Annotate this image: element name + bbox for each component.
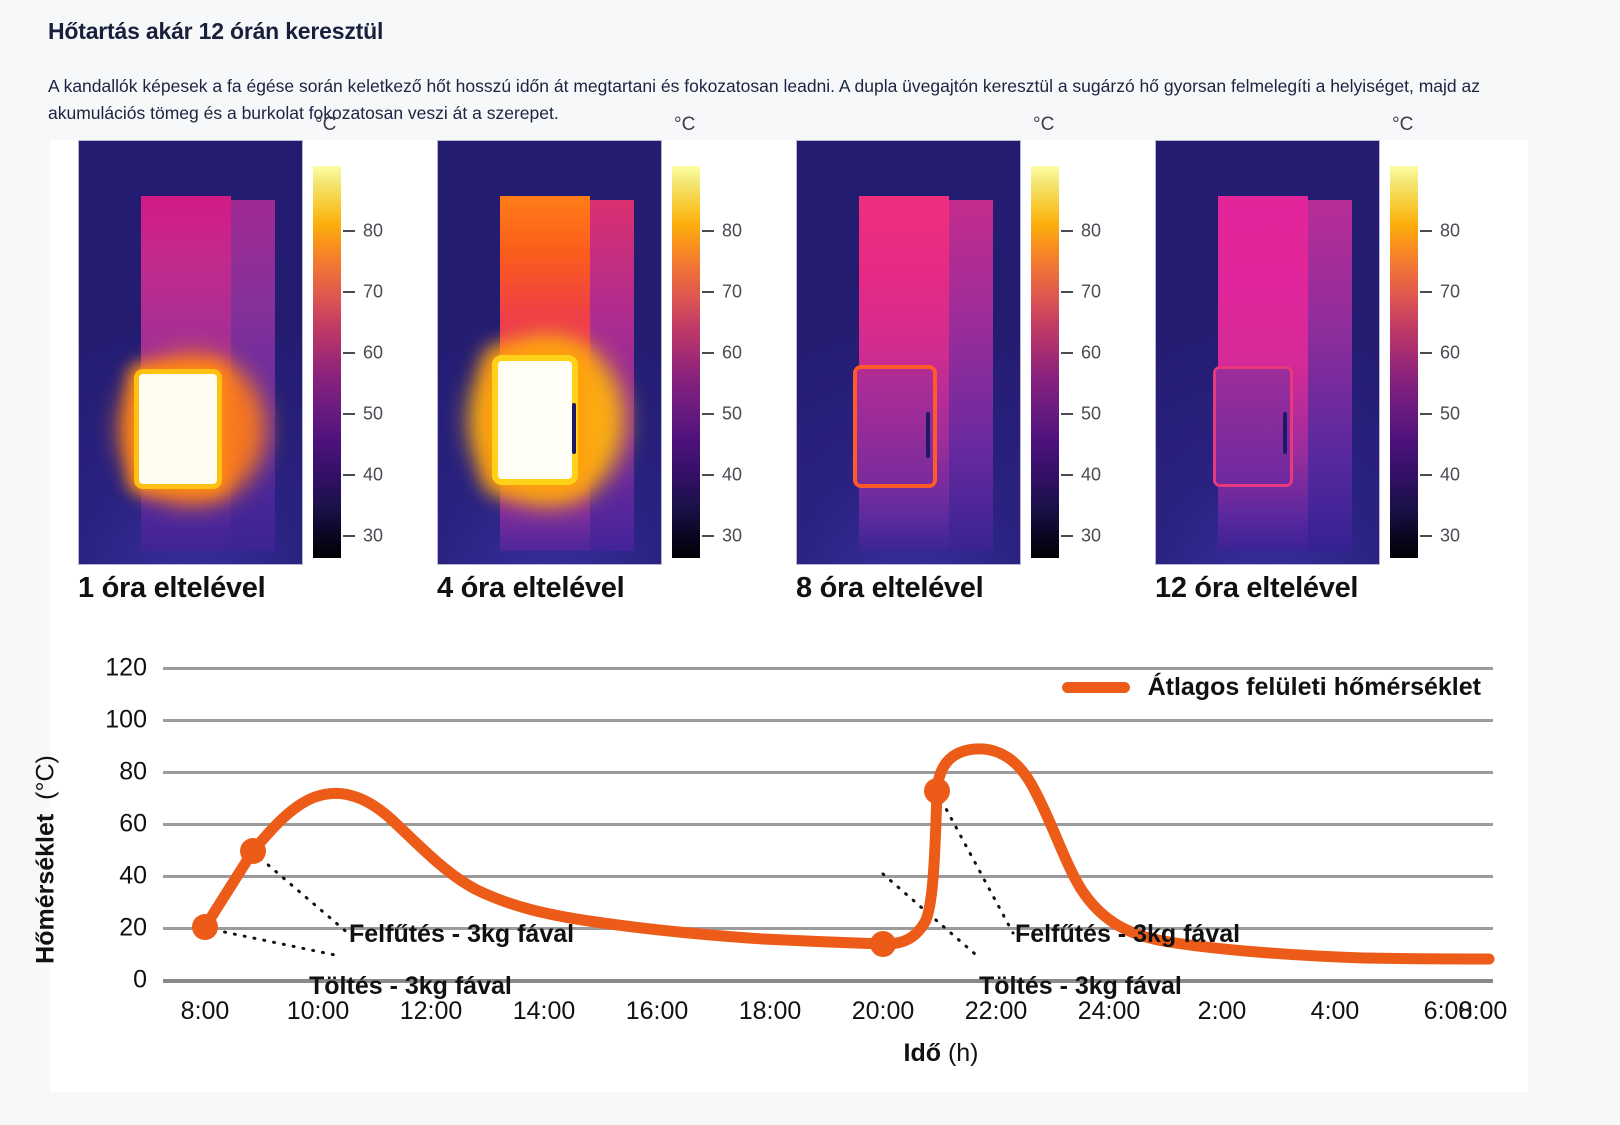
colorbar-tick-50: 50	[1440, 404, 1460, 425]
colorbar-tick-70: 70	[1440, 282, 1460, 303]
page-root: Hőtartás akár 12 órán keresztül A kandal…	[0, 0, 1620, 1125]
colorbar-tick-80: 80	[363, 221, 383, 242]
page-title: Hőtartás akár 12 órán keresztül	[48, 18, 1572, 45]
colorbar-tick-60: 60	[1081, 343, 1101, 364]
thermal-caption-4h: 4 óra eltelével	[437, 572, 624, 605]
colorbar-4h: °C 80 70 60 50 40 30	[672, 140, 768, 565]
colorbar-tick-40: 40	[1440, 465, 1460, 486]
marker-point-toltes-1	[192, 914, 218, 940]
colorbar-tick-30: 30	[363, 526, 383, 547]
x-tick-5: 18:00	[739, 997, 802, 1026]
thermal-caption-1h: 1 óra eltelével	[78, 572, 265, 605]
y-tick-80: 80	[119, 758, 147, 787]
x-axis-title-unit: (h)	[948, 1039, 979, 1067]
y-axis-title-unit: (°C)	[32, 755, 60, 800]
colorbar-unit-label: °C	[1033, 114, 1054, 136]
x-tick-7: 22:00	[965, 997, 1028, 1026]
annotation-felfutes-right: Felfűtés - 3kg fával	[1015, 920, 1240, 949]
x-tick-3: 14:00	[513, 997, 576, 1026]
marker-point-felfutes-2	[924, 778, 950, 804]
thermal-image-8h	[796, 140, 1021, 565]
colorbar-unit-label: °C	[1392, 114, 1413, 136]
annotation-leader-lines	[205, 792, 1013, 955]
colorbar-12h: °C 80 70 60 50 40 30	[1390, 140, 1486, 565]
thermal-image-12h	[1155, 140, 1380, 565]
x-tick-6: 20:00	[852, 997, 915, 1026]
thermal-image-row: °C 80 70 60 50 40 30	[50, 140, 1528, 640]
colorbar-gradient	[313, 166, 341, 558]
y-axis-title-text: Hőmérséklet (°C)	[32, 755, 60, 964]
colorbar-tick-40: 40	[1081, 465, 1101, 486]
colorbar-tick-60: 60	[1440, 343, 1460, 364]
colorbar-tick-60: 60	[363, 343, 383, 364]
chart-y-axis-title: Hőmérséklet (°C)	[32, 755, 61, 964]
y-tick-100: 100	[105, 706, 147, 735]
x-tick-9: 2:00	[1198, 997, 1247, 1026]
marker-point-felfutes-1	[240, 838, 266, 864]
chart-x-axis-title: Idő (h)	[903, 1039, 978, 1068]
colorbar-tick-70: 70	[1081, 282, 1101, 303]
colorbar-tick-80: 80	[722, 221, 742, 242]
x-tick-2: 12:00	[400, 997, 463, 1026]
colorbar-tick-40: 40	[722, 465, 742, 486]
intro-paragraph: A kandallók képesek a fa égése során kel…	[48, 73, 1572, 127]
thermal-caption-8h: 8 óra eltelével	[796, 572, 983, 605]
x-tick-0: 8:00	[181, 997, 230, 1026]
thermal-panel-4h: °C 80 70 60 50 40 30	[409, 140, 768, 640]
colorbar-tick-30: 30	[722, 526, 742, 547]
thermal-image-4h	[437, 140, 662, 565]
content-card: °C 80 70 60 50 40 30	[50, 140, 1528, 1092]
y-tick-60: 60	[119, 810, 147, 839]
colorbar-tick-30: 30	[1440, 526, 1460, 547]
colorbar-tick-80: 80	[1440, 221, 1460, 242]
colorbar-unit-label: °C	[315, 114, 336, 136]
colorbar-tick-70: 70	[363, 282, 383, 303]
thermal-image-1h	[78, 140, 303, 565]
x-tick-4: 16:00	[626, 997, 689, 1026]
thermal-panel-1h: °C 80 70 60 50 40 30	[50, 140, 409, 640]
intro-section: Hőtartás akár 12 órán keresztül A kandal…	[0, 0, 1620, 127]
colorbar-gradient	[672, 166, 700, 558]
colorbar-tick-50: 50	[1081, 404, 1101, 425]
temperature-chart: Hőmérséklet (°C) 120 100 80 60 40 20 0	[50, 645, 1528, 1092]
x-axis-title-text: Idő	[903, 1039, 941, 1067]
x-tick-12: 8:00	[1459, 997, 1508, 1026]
colorbar-gradient	[1031, 166, 1059, 558]
y-tick-40: 40	[119, 862, 147, 891]
y-tick-0: 0	[133, 966, 147, 995]
colorbar-tick-60: 60	[722, 343, 742, 364]
y-tick-120: 120	[105, 654, 147, 683]
thermal-panel-8h: °C 80 70 60 50 40 30	[768, 140, 1127, 640]
colorbar-tick-50: 50	[363, 404, 383, 425]
colorbar-tick-50: 50	[722, 404, 742, 425]
x-tick-8: 24:00	[1078, 997, 1141, 1026]
colorbar-tick-80: 80	[1081, 221, 1101, 242]
colorbar-gradient	[1390, 166, 1418, 558]
thermal-caption-12h: 12 óra eltelével	[1155, 572, 1358, 605]
chart-plot-area: 120 100 80 60 40 20 0 Átlagos felületi h…	[163, 667, 1493, 982]
colorbar-unit-label: °C	[674, 114, 695, 136]
y-tick-20: 20	[119, 914, 147, 943]
colorbar-tick-30: 30	[1081, 526, 1101, 547]
x-tick-1: 10:00	[287, 997, 350, 1026]
x-tick-10: 4:00	[1311, 997, 1360, 1026]
colorbar-1h: °C 80 70 60 50 40 30	[313, 140, 409, 565]
colorbar-8h: °C 80 70 60 50 40 30	[1031, 140, 1127, 565]
marker-point-toltes-2	[870, 931, 896, 957]
colorbar-tick-40: 40	[363, 465, 383, 486]
thermal-panel-12h: °C 80 70 60 50 40 30	[1127, 140, 1486, 640]
annotation-felfutes-left: Felfűtés - 3kg fával	[349, 920, 574, 949]
colorbar-tick-70: 70	[722, 282, 742, 303]
